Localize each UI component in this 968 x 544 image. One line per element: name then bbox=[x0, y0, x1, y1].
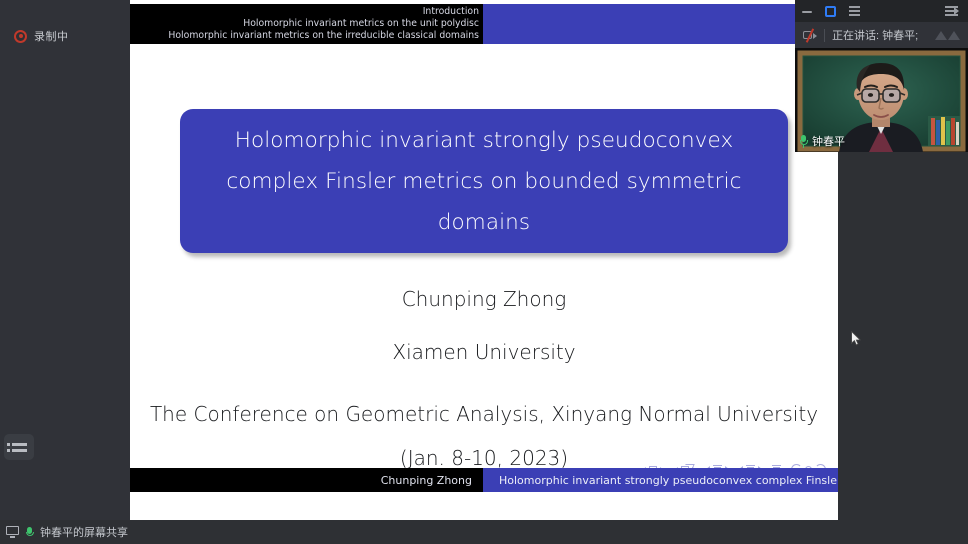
participant-name: 钟春平 bbox=[812, 133, 845, 149]
shared-screen[interactable]: Introduction Holomorphic invariant metri… bbox=[130, 0, 838, 520]
footer-title-text: Holomorphic invariant strongly pseudocon… bbox=[499, 474, 838, 487]
recording-indicator[interactable]: 录制中 bbox=[14, 28, 69, 44]
record-dot-icon bbox=[14, 30, 27, 43]
camera-off-icon[interactable] bbox=[803, 29, 817, 41]
header-line-2: Holomorphic invariant metrics on the uni… bbox=[243, 18, 479, 30]
slide-author: Chunping Zhong bbox=[130, 287, 838, 311]
participant-video-tile[interactable]: 钟春平 bbox=[795, 48, 968, 152]
slide-header-nav: Introduction Holomorphic invariant metri… bbox=[130, 4, 483, 44]
header-line-3: Holomorphic invariant metrics on the irr… bbox=[168, 30, 479, 42]
speaking-label: 正在讲话: 钟春平; bbox=[832, 27, 918, 43]
app-window: 录制中 Introduction Holomorphic invariant m… bbox=[0, 0, 968, 544]
microphone-on-icon bbox=[799, 135, 808, 148]
footer-title: Holomorphic invariant strongly pseudocon… bbox=[483, 468, 838, 492]
recording-label: 录制中 bbox=[34, 28, 69, 44]
slide-title: Holomorphic invariant strongly pseudocon… bbox=[180, 120, 788, 243]
mouse-cursor bbox=[851, 331, 862, 346]
divider bbox=[824, 29, 825, 42]
speaking-status-bar: 正在讲话: 钟春平; bbox=[795, 22, 968, 48]
taskbar: 钟春平的屏幕共享 bbox=[0, 520, 968, 544]
audio-waveform-icon bbox=[935, 31, 960, 40]
menu-icon[interactable] bbox=[849, 6, 860, 16]
header-line-1: Introduction bbox=[423, 6, 479, 18]
footer-author-text: Chunping Zhong bbox=[381, 474, 472, 487]
microphone-on-icon[interactable] bbox=[25, 526, 34, 539]
list-menu-icon[interactable] bbox=[4, 434, 34, 460]
screen-share-icon[interactable] bbox=[6, 526, 19, 538]
collapse-panel-icon[interactable] bbox=[945, 6, 958, 16]
slide-affiliation: Xiamen University bbox=[130, 340, 838, 364]
left-rail: 录制中 bbox=[0, 0, 130, 520]
taskbar-label: 钟春平的屏幕共享 bbox=[40, 524, 128, 540]
slide-title-box: Holomorphic invariant strongly pseudocon… bbox=[180, 109, 788, 253]
slide-body: Holomorphic invariant strongly pseudocon… bbox=[130, 44, 838, 492]
slide-footer-bar: Chunping Zhong Holomorphic invariant str… bbox=[130, 468, 838, 492]
participant-name-badge: 钟春平 bbox=[799, 133, 845, 149]
footer-author: Chunping Zhong bbox=[130, 468, 483, 492]
slide-header-bar: Introduction Holomorphic invariant metri… bbox=[130, 4, 838, 44]
